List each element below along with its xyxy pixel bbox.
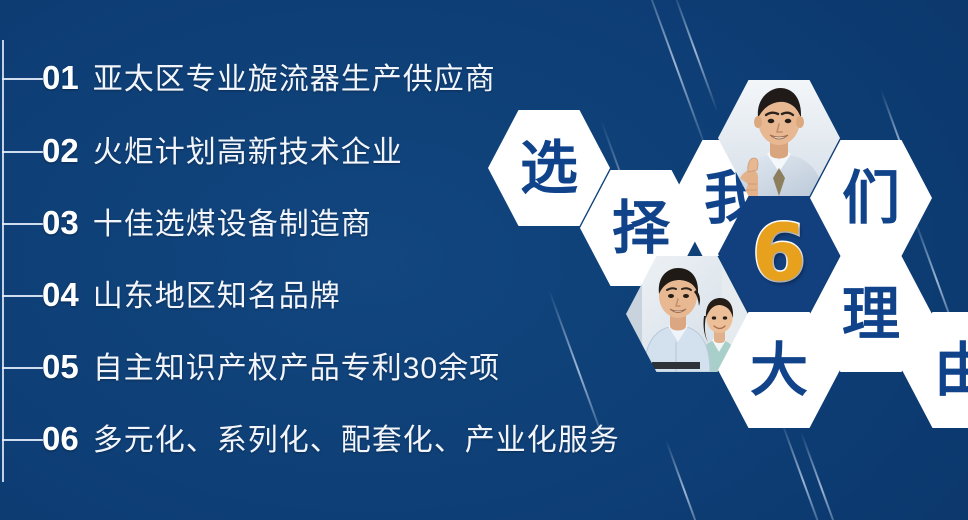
list-item: 01 亚太区专业旋流器生产供应商 [42, 61, 496, 95]
hex-glyph-number: 6 [752, 215, 806, 293]
list-item-label: 十佳选煤设备制造商 [93, 210, 372, 240]
list-item: 02 火炬计划高新技术企业 [42, 134, 403, 168]
list-item-number: 05 [42, 350, 79, 383]
list-item-label: 火炬计划高新技术企业 [93, 138, 403, 168]
row-tick-2 [2, 151, 43, 153]
list-item-label: 多元化、系列化、配套化、产业化服务 [93, 426, 620, 456]
row-tick-6 [2, 439, 43, 441]
row-tick-5 [2, 367, 43, 369]
hexagon-cluster: 选 择 我 [480, 88, 968, 428]
row-tick-4 [2, 295, 43, 297]
list-item: 03 十佳选煤设备制造商 [42, 206, 372, 240]
list-item-number: 01 [42, 61, 79, 94]
list-item-number: 06 [42, 422, 79, 455]
list-item-number: 03 [42, 206, 79, 239]
list-item-label: 自主知识产权产品专利30余项 [93, 354, 500, 384]
diagonal-line-9 [665, 440, 704, 520]
hex-glyph: 大 [750, 341, 808, 399]
list-item-label: 山东地区知名品牌 [93, 282, 341, 312]
diagonal-line-7 [780, 420, 826, 520]
hex-glyph: 们 [842, 169, 900, 227]
banner-canvas: 01 亚太区专业旋流器生产供应商 02 火炬计划高新技术企业 03 十佳选煤设备… [0, 0, 968, 520]
list-item-number: 04 [42, 278, 79, 311]
list-item-number: 02 [42, 134, 79, 167]
row-tick-1 [2, 78, 43, 80]
timeline-axis [2, 40, 4, 482]
hex-glyph: 选 [520, 139, 578, 197]
hex-glyph: 择 [612, 199, 670, 257]
list-item-label: 亚太区专业旋流器生产供应商 [93, 65, 496, 95]
diagonal-line-8 [800, 432, 842, 520]
row-tick-3 [2, 223, 43, 225]
list-item: 04 山东地区知名品牌 [42, 278, 341, 312]
hex-glyph: 由 [934, 341, 968, 399]
hex-glyph: 理 [842, 285, 900, 343]
list-item: 05 自主知识产权产品专利30余项 [42, 350, 500, 384]
